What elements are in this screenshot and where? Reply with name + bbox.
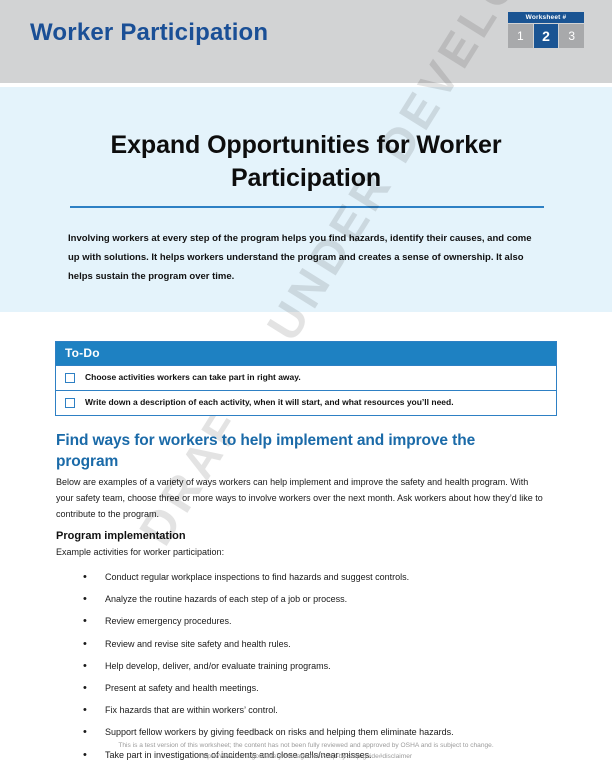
list-item: Fix hazards that are within workers’ con… xyxy=(79,699,559,721)
worksheet-number-1[interactable]: 1 xyxy=(508,24,533,48)
section-body: Below are examples of a variety of ways … xyxy=(56,474,546,522)
page-header: Worker Participation Worksheet # 1 2 3 xyxy=(0,0,612,83)
todo-item-label: Choose activities workers can take part … xyxy=(85,372,301,383)
list-item: Review and revise site safety and health… xyxy=(79,633,559,655)
worksheet-badge-numbers: 1 2 3 xyxy=(508,24,584,48)
list-item: Present at safety and health meetings. xyxy=(79,677,559,699)
activity-list: Conduct regular workplace inspections to… xyxy=(79,566,559,766)
hero-title: Expand Opportunities for Worker Particip… xyxy=(66,129,546,195)
page-title: Worker Participation xyxy=(30,19,268,47)
worksheet-number-2[interactable]: 2 xyxy=(534,24,559,48)
todo-box: To-Do Choose activities workers can take… xyxy=(55,341,557,416)
hero-description: Involving workers at every step of the p… xyxy=(68,229,538,286)
checkbox-icon[interactable] xyxy=(65,398,75,408)
subsection-heading: Program implementation xyxy=(56,530,186,542)
footer-url[interactable]: https://www.osha.gov/safety-management/s… xyxy=(0,751,612,762)
list-item: Analyze the routine hazards of each step… xyxy=(79,588,559,610)
hero-section: Expand Opportunities for Worker Particip… xyxy=(0,87,612,312)
hero-divider xyxy=(70,206,544,208)
list-item: Review emergency procedures. xyxy=(79,610,559,632)
todo-item[interactable]: Choose activities workers can take part … xyxy=(56,365,556,390)
worksheet-badge-label: Worksheet # xyxy=(508,12,584,23)
worksheet-number-3[interactable]: 3 xyxy=(559,24,584,48)
todo-header: To-Do xyxy=(56,342,556,365)
todo-item[interactable]: Write down a description of each activit… xyxy=(56,390,556,415)
todo-item-label: Write down a description of each activit… xyxy=(85,397,454,408)
list-item: Help develop, deliver, and/or evaluate t… xyxy=(79,655,559,677)
list-item: Conduct regular workplace inspections to… xyxy=(79,566,559,588)
section-heading: Find ways for workers to help implement … xyxy=(56,430,516,472)
worksheet-page: Worker Participation Worksheet # 1 2 3 E… xyxy=(0,0,612,770)
worksheet-number-badge: Worksheet # 1 2 3 xyxy=(508,12,584,48)
checkbox-icon[interactable] xyxy=(65,373,75,383)
page-footer: This is a test version of this worksheet… xyxy=(0,740,612,762)
footer-disclaimer: This is a test version of this worksheet… xyxy=(0,740,612,751)
subsection-lead: Example activities for worker participat… xyxy=(56,547,224,557)
